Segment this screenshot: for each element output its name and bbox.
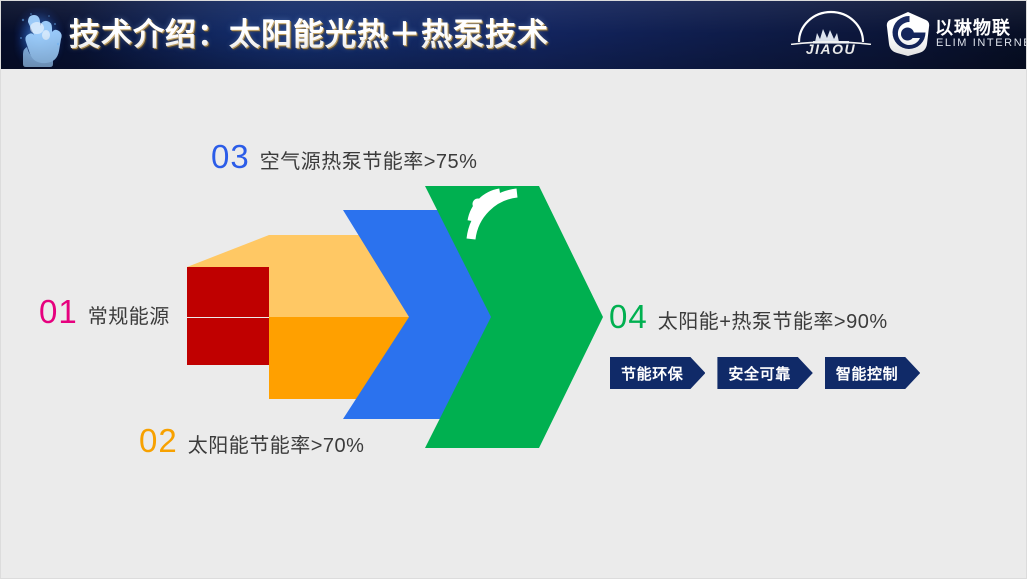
g-hexagon-icon — [885, 11, 931, 57]
feature-tag-group: 节能环保 安全可靠 智能控制 — [610, 357, 920, 389]
jiaou-logo: JIAOU — [787, 9, 875, 61]
step-number-04: 04 — [609, 298, 648, 336]
step-label-02: 02 太阳能节能率>70% — [139, 422, 364, 460]
slide-header: 技术介绍：太阳能光热＋热泵技术 JIAOU 以琳物联 ELIM INTERNET — [1, 1, 1027, 69]
step-text-01: 常规能源 — [88, 300, 170, 329]
feature-tag-label: 节能环保 — [621, 363, 683, 384]
jiaou-wordmark: JIAOU — [787, 41, 875, 57]
feature-tag-smart-control[interactable]: 智能控制 — [825, 357, 920, 389]
sunrise-arch-icon — [787, 9, 875, 45]
feature-tag-energy-saving[interactable]: 节能环保 — [610, 357, 705, 389]
step-text-02: 太阳能节能率>70% — [188, 429, 365, 458]
fist-icon — [11, 2, 67, 68]
step-number-01: 01 — [39, 293, 78, 331]
feature-tag-label: 安全可靠 — [728, 363, 790, 384]
step-number-03: 03 — [211, 138, 250, 176]
step-text-03: 空气源热泵节能率>75% — [260, 145, 478, 174]
elim-logo: 以琳物联 ELIM INTERNET — [885, 11, 1017, 59]
step-text-04: 太阳能+热泵节能率>90% — [658, 305, 888, 334]
slide-canvas: 技术介绍：太阳能光热＋热泵技术 JIAOU 以琳物联 ELIM INTERNET — [0, 0, 1027, 579]
step-label-04: 04 太阳能+热泵节能率>90% — [609, 298, 888, 336]
step-label-01: 01 常规能源 — [39, 293, 170, 331]
feature-tag-safe-reliable[interactable]: 安全可靠 — [717, 357, 812, 389]
step-number-02: 02 — [139, 422, 178, 460]
page-title: 技术介绍：太阳能光热＋热泵技术 — [69, 11, 549, 59]
elim-name-en: ELIM INTERNET — [936, 37, 1027, 49]
step-label-03: 03 空气源热泵节能率>75% — [211, 138, 477, 176]
feature-tag-label: 智能控制 — [836, 363, 898, 384]
